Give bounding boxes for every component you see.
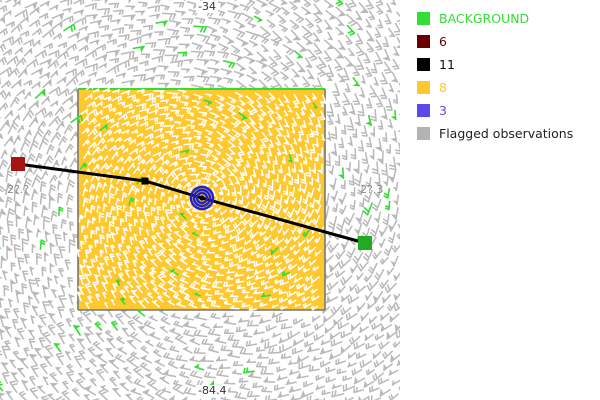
track-waypoint[interactable]: [142, 178, 149, 185]
plot-clip-area: [0, 0, 400, 400]
legend-swatch-11: [417, 58, 430, 71]
track-end-square[interactable]: [358, 236, 372, 250]
legend-item-label: Flagged observations: [439, 127, 573, 140]
legend-swatch-flagged: [417, 127, 430, 140]
vector-field-plot[interactable]: -34 -84.4 -2?.? 2?.3: [0, 0, 400, 400]
track-start-square[interactable]: [11, 157, 25, 171]
legend-item[interactable]: BACKGROUND: [406, 8, 600, 29]
legend-item-label: 11: [439, 58, 455, 71]
legend-item-label: 8: [439, 81, 447, 94]
legend-item[interactable]: 6: [406, 31, 600, 52]
legend-swatch-6: [417, 35, 430, 48]
legend-item[interactable]: 11: [406, 54, 600, 75]
legend-panel: BACKGROUND61183Flagged observations: [406, 0, 600, 400]
axis-label-left: -2?.?: [1, 184, 31, 196]
legend-item-label: 6: [439, 35, 447, 48]
wind-vector-field: [0, 0, 400, 400]
screenshot-root: -34 -84.4 -2?.? 2?.3 BACKGROUND61183Flag…: [0, 0, 600, 400]
axis-label-right: 2?.3: [358, 184, 385, 196]
legend-swatch-8: [417, 81, 430, 94]
storm-center[interactable]: [191, 187, 213, 209]
legend-item-label: 3: [439, 104, 447, 117]
legend-item-label: BACKGROUND: [439, 12, 529, 25]
legend-swatch-background: [417, 12, 430, 25]
axis-label-bottom: -84.4: [196, 385, 228, 397]
legend-item[interactable]: Flagged observations: [406, 123, 600, 144]
legend-item[interactable]: 3: [406, 100, 600, 121]
axis-label-top: -34: [196, 1, 218, 13]
legend-swatch-3: [417, 104, 430, 117]
legend-item[interactable]: 8: [406, 77, 600, 98]
